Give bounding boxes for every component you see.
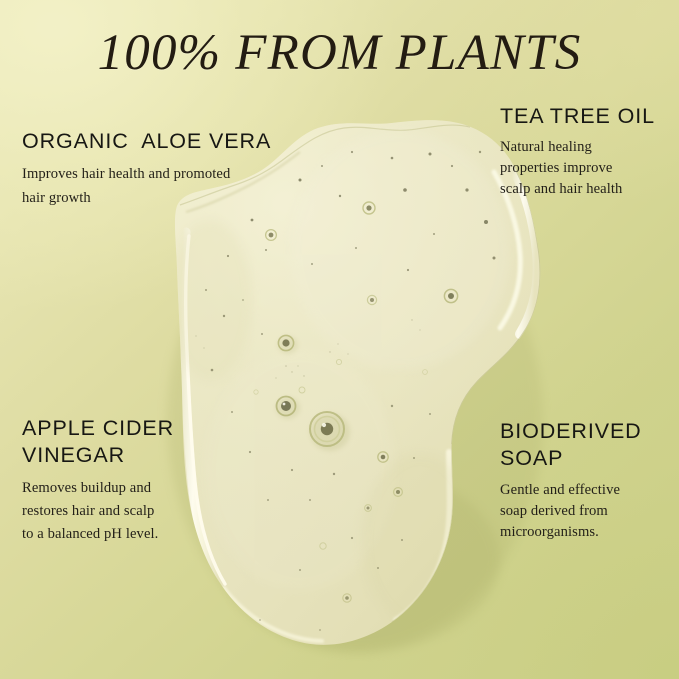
callout-apple-cider-vinegar: APPLE CIDER VINEGAR Removes buildup and … bbox=[22, 415, 292, 546]
callout-heading-tea-tree: TEA TREE OIL bbox=[500, 103, 675, 129]
callout-body-bioderived-soap: Gentle and effective soap derived from m… bbox=[500, 480, 675, 543]
callout-body-aloe: Improves hair health and promoted hair g… bbox=[22, 162, 297, 210]
callout-heading-aloe: ORGANIC ALOE VERA bbox=[22, 128, 297, 154]
callout-tea-tree-oil: TEA TREE OIL Natural healing properties … bbox=[500, 103, 675, 200]
callout-heading-bioderived-soap: BIODERIVED SOAP bbox=[500, 418, 675, 472]
callout-heading-apple-cider-vinegar: APPLE CIDER VINEGAR bbox=[22, 415, 292, 469]
product-ingredients-poster: 100% FROM PLANTS ORGANIC ALOE VERA Impro… bbox=[0, 0, 679, 679]
page-title: 100% FROM PLANTS bbox=[0, 24, 679, 82]
callout-body-tea-tree: Natural healing properties improve scalp… bbox=[500, 137, 675, 200]
gel-blob-illustration bbox=[0, 0, 679, 679]
callout-organic-aloe-vera: ORGANIC ALOE VERA Improves hair health a… bbox=[22, 128, 297, 210]
callout-body-apple-cider-vinegar: Removes buildup and restores hair and sc… bbox=[22, 477, 292, 546]
callout-bioderived-soap: BIODERIVED SOAP Gentle and effective soa… bbox=[500, 418, 675, 543]
